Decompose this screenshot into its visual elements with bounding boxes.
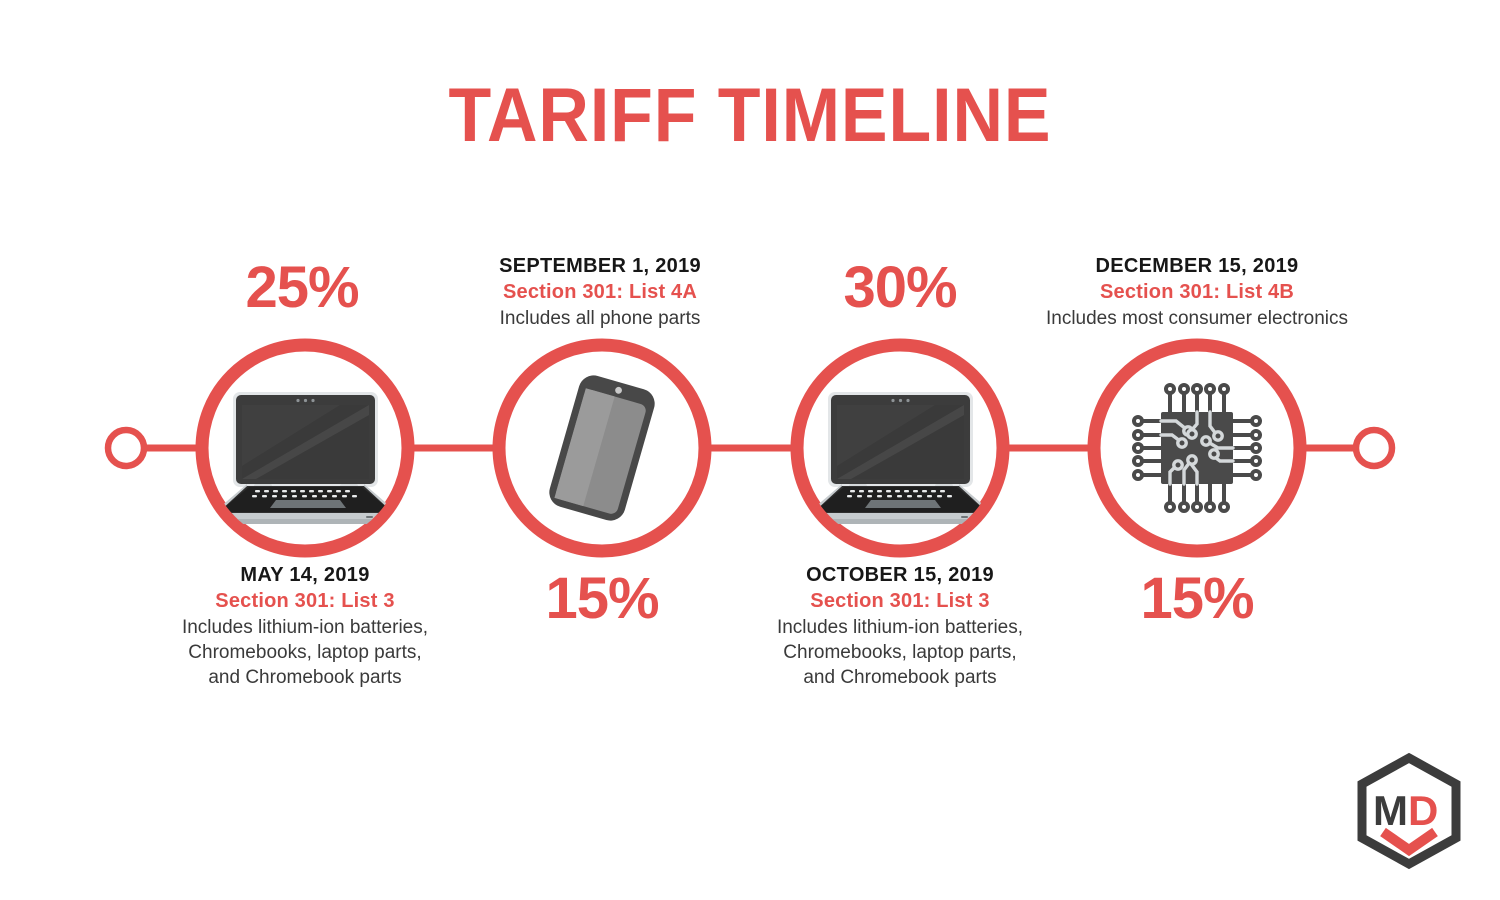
- date-label-1: MAY 14, 2019: [105, 562, 505, 588]
- section-label-3: Section 301: List 3: [700, 588, 1100, 614]
- description-line: Chromebooks, laptop parts,: [700, 640, 1100, 665]
- timeline-info-2: SEPTEMBER 1, 2019 Section 301: List 4A I…: [440, 253, 760, 331]
- timeline-node-1[interactable]: [202, 345, 408, 551]
- date-label-3: OCTOBER 15, 2019: [700, 562, 1100, 588]
- description-line: and Chromebook parts: [105, 665, 505, 690]
- timeline-node-4[interactable]: [1094, 345, 1300, 551]
- section-label-4: Section 301: List 4B: [1010, 279, 1384, 305]
- date-label-2: SEPTEMBER 1, 2019: [440, 253, 760, 279]
- laptop-icon: [213, 392, 398, 524]
- description-line: Includes lithium-ion batteries,: [105, 615, 505, 640]
- description-line: Includes all phone parts: [440, 306, 760, 331]
- laptop-icon: [808, 392, 993, 524]
- date-label-4: DECEMBER 15, 2019: [1010, 253, 1384, 279]
- logo-letter-d: D: [1408, 787, 1438, 834]
- description-2: Includes all phone parts: [440, 306, 760, 331]
- description-line: and Chromebook parts: [700, 665, 1100, 690]
- percent-label-2: 15%: [482, 570, 722, 628]
- section-label-2: Section 301: List 4A: [440, 279, 760, 305]
- percent-label-4: 15%: [1077, 570, 1317, 628]
- logo-letter-m: M: [1373, 787, 1408, 834]
- timeline-info-1: MAY 14, 2019 Section 301: List 3 Include…: [105, 562, 505, 690]
- description-line: Includes lithium-ion batteries,: [700, 615, 1100, 640]
- description-3: Includes lithium-ion batteries,Chromeboo…: [700, 615, 1100, 690]
- timeline-endcap-right: [1356, 430, 1392, 466]
- percent-label-3: 30%: [780, 259, 1020, 317]
- timeline-graphic: [0, 0, 1500, 900]
- timeline-endcap-left: [108, 430, 144, 466]
- description-line: Chromebooks, laptop parts,: [105, 640, 505, 665]
- percent-label-1: 25%: [182, 259, 422, 317]
- accent-chevron-icon: [1383, 832, 1435, 850]
- timeline-node-2[interactable]: [499, 345, 705, 551]
- timeline-info-3: OCTOBER 15, 2019 Section 301: List 3 Inc…: [700, 562, 1100, 690]
- timeline-info-4: DECEMBER 15, 2019 Section 301: List 4B I…: [1010, 253, 1384, 331]
- section-label-1: Section 301: List 3: [105, 588, 505, 614]
- timeline-node-3[interactable]: [797, 345, 1003, 551]
- md-hexagon-logo[interactable]: M D: [1350, 752, 1468, 870]
- description-1: Includes lithium-ion batteries,Chromeboo…: [105, 615, 505, 690]
- description-4: Includes most consumer electronics: [1010, 306, 1384, 331]
- description-line: Includes most consumer electronics: [1010, 306, 1384, 331]
